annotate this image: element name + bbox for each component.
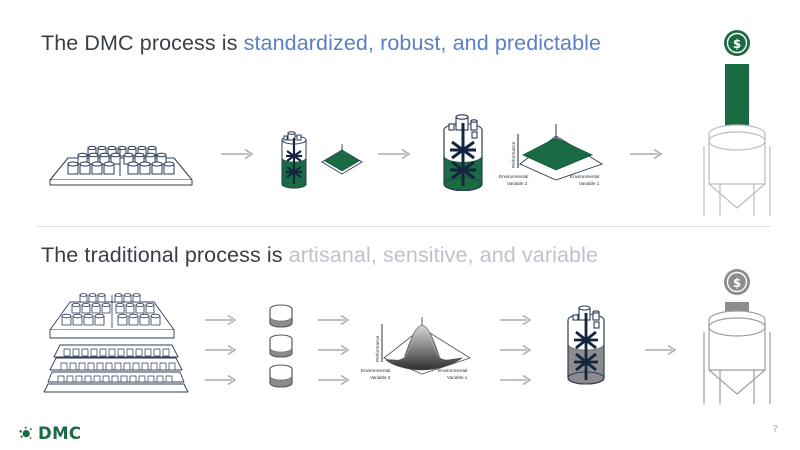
page-title-bottom: The traditional process is artisanal, se… <box>41 243 598 268</box>
title-bottom-lead: The traditional process is <box>41 243 289 267</box>
top-response-surface-plot: Performance Environmental Variable 2 Env… <box>494 122 616 190</box>
page-title-top: The DMC process is standardized, robust,… <box>41 31 601 56</box>
arrow-right-icon <box>630 148 664 162</box>
dmc-logo-text: DMC <box>38 424 81 443</box>
arrow-right-icon <box>500 344 534 358</box>
vial-tray-figure <box>46 124 196 188</box>
arrow-right-icon <box>205 344 239 358</box>
arrow-right-icon <box>318 344 352 358</box>
svg-text:$: $ <box>733 37 741 51</box>
bottom-response-surface-plot: Performance Environmental Variable 2 Env… <box>358 312 484 386</box>
svg-text:$: $ <box>733 276 741 290</box>
production-tank-bottom-figure: $ <box>684 264 788 404</box>
arrow-right-icon <box>500 314 534 328</box>
axis-label-env1-line1: Environmental <box>570 174 599 179</box>
arrow-right-icon <box>205 374 239 388</box>
arrow-right-icon <box>500 374 534 388</box>
dollar-coin-icon: $ <box>724 30 750 56</box>
arrow-right-icon <box>318 314 352 328</box>
slide-canvas: The DMC process is standardized, robust,… <box>0 0 800 450</box>
shake-flask-figure <box>264 363 298 389</box>
small-response-surface-plot <box>320 142 368 180</box>
title-bottom-emphasis: artisanal, sensitive, and variable <box>289 243 598 267</box>
production-tank-top-figure: $ <box>684 26 788 216</box>
page-number: 7 <box>773 424 778 435</box>
arrow-right-icon <box>378 148 412 162</box>
section-divider <box>38 226 771 227</box>
dmc-logo: DMC <box>18 424 81 443</box>
axis-label-env2-line1: Environmental <box>361 368 390 373</box>
large-bioreactor-figure <box>432 108 494 196</box>
axis-label-env2-line2: Variable 2 <box>507 181 528 186</box>
axis-label-performance: Performance <box>375 335 380 362</box>
axis-label-env2-line1: Environmental <box>499 174 528 179</box>
axis-label-env2-line2: Variable 2 <box>370 375 391 380</box>
axis-label-env1-line2: Variable 1 <box>447 375 468 380</box>
shake-flask-figure <box>264 303 298 329</box>
gray-bioreactor-figure <box>557 300 615 392</box>
title-top-emphasis: standardized, robust, and predictable <box>244 31 601 55</box>
arrow-right-icon <box>318 374 352 388</box>
arrow-right-icon <box>645 344 679 358</box>
arrow-right-icon <box>205 314 239 328</box>
small-bioreactor-figure <box>272 126 318 194</box>
axis-label-env1-line1: Environmental <box>438 368 467 373</box>
shake-flask-figure <box>264 333 298 359</box>
axis-label-performance: Performance <box>511 141 516 168</box>
axis-label-env1-line2: Variable 1 <box>579 181 600 186</box>
dollar-coin-icon: $ <box>724 269 750 295</box>
stacked-vial-trays-figure <box>36 288 196 396</box>
title-top-lead: The DMC process is <box>41 31 244 55</box>
dmc-dot-mark-icon <box>18 426 33 441</box>
arrow-right-icon <box>221 148 255 162</box>
